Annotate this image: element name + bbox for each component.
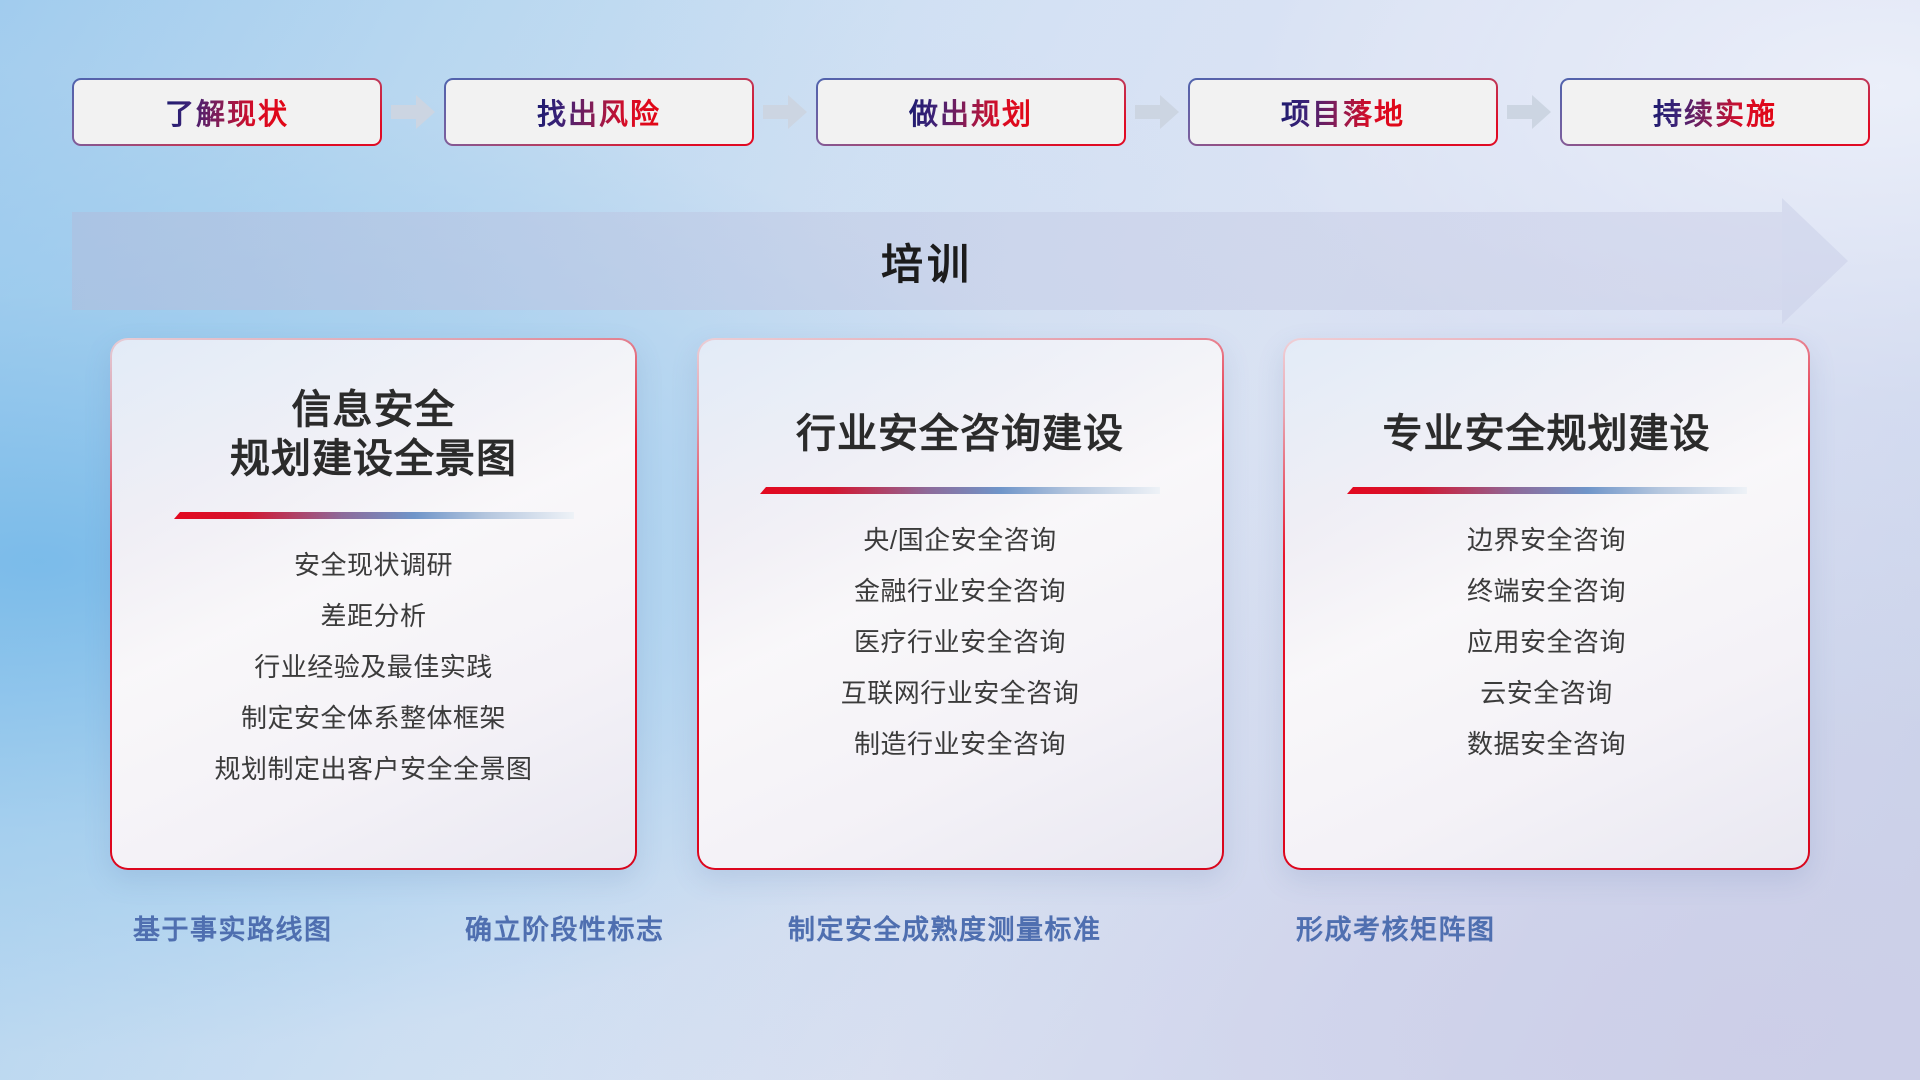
card-3-divider [1347,485,1747,497]
card-2-title: 行业安全咨询建设 [796,410,1124,459]
list-item: 应用安全咨询 [1285,629,1808,655]
list-item: 边界安全咨询 [1285,527,1808,553]
list-item: 互联网行业安全咨询 [699,680,1222,706]
card-2[interactable]: 行业安全咨询建设 [697,338,1224,870]
caption-2: 确立阶段性标志 [465,908,665,947]
arrow-right-icon-2 [754,90,816,134]
card-1-title: 信息安全 规划建设全景图 [230,386,517,484]
capability-cards: 信息安全 规划建设全景图 [110,338,1810,870]
caption-4: 形成考核矩阵图 [1296,908,1496,947]
card-1-inner: 信息安全 规划建设全景图 [112,340,635,868]
card-2-list: 央/国企安全咨询 金融行业安全咨询 医疗行业安全咨询 互联网行业安全咨询 制造行… [699,527,1222,782]
list-item: 金融行业安全咨询 [699,578,1222,604]
card-3-list: 边界安全咨询 终端安全咨询 应用安全咨询 云安全咨询 数据安全咨询 [1285,527,1808,782]
step-box-3-inner: 做出规划 [818,80,1124,144]
outcome-captions: 基于事实路线图 确立阶段性标志 制定安全成熟度测量标准 形成考核矩阵图 [0,908,1920,968]
list-item: 终端安全咨询 [1285,578,1808,604]
step-box-2[interactable]: 找出风险 [444,78,754,146]
caption-3: 制定安全成熟度测量标准 [788,908,1102,947]
arrow-right-icon-3 [1126,90,1188,134]
list-item: 医疗行业安全咨询 [699,629,1222,655]
list-item: 行业经验及最佳实践 [112,654,635,680]
step-box-4-inner: 项目落地 [1190,80,1496,144]
step-box-3[interactable]: 做出规划 [816,78,1126,146]
step-box-5-inner: 持续实施 [1562,80,1868,144]
step-box-1[interactable]: 了解现状 [72,78,382,146]
list-item: 制造行业安全咨询 [699,731,1222,757]
slide-canvas: 了解现状 找出风险 做出规划 项目落地 [0,0,1920,1080]
list-item: 数据安全咨询 [1285,731,1808,757]
list-item: 规划制定出客户安全全景图 [112,756,635,782]
list-item: 制定安全体系整体框架 [112,705,635,731]
step-box-5[interactable]: 持续实施 [1560,78,1870,146]
card-1-list: 安全现状调研 差距分析 行业经验及最佳实践 制定安全体系整体框架 规划制定出客户… [112,552,635,807]
list-item: 央/国企安全咨询 [699,527,1222,553]
training-banner: 培训 [72,212,1848,310]
step-label-3: 做出规划 [909,91,1033,133]
step-label-1: 了解现状 [165,91,289,133]
card-3[interactable]: 专业安全规划建设 [1283,338,1810,870]
step-label-2: 找出风险 [537,91,661,133]
banner-arrow-tip-icon [1782,198,1848,324]
step-label-4: 项目落地 [1281,91,1405,133]
card-1-divider [174,510,574,522]
card-2-inner: 行业安全咨询建设 [699,340,1222,868]
step-box-2-inner: 找出风险 [446,80,752,144]
list-item: 差距分析 [112,603,635,629]
banner-title: 培训 [72,212,1782,310]
card-2-divider [760,485,1160,497]
list-item: 云安全咨询 [1285,680,1808,706]
arrow-right-icon-1 [382,90,444,134]
step-box-4[interactable]: 项目落地 [1188,78,1498,146]
card-3-inner: 专业安全规划建设 [1285,340,1808,868]
list-item: 安全现状调研 [112,552,635,578]
process-steps: 了解现状 找出风险 做出规划 项目落地 [72,78,1848,146]
arrow-right-icon-4 [1498,90,1560,134]
card-3-title: 专业安全规划建设 [1383,410,1711,459]
step-box-1-inner: 了解现状 [74,80,380,144]
step-label-5: 持续实施 [1653,91,1777,133]
caption-1: 基于事实路线图 [133,908,333,947]
card-1[interactable]: 信息安全 规划建设全景图 [110,338,637,870]
